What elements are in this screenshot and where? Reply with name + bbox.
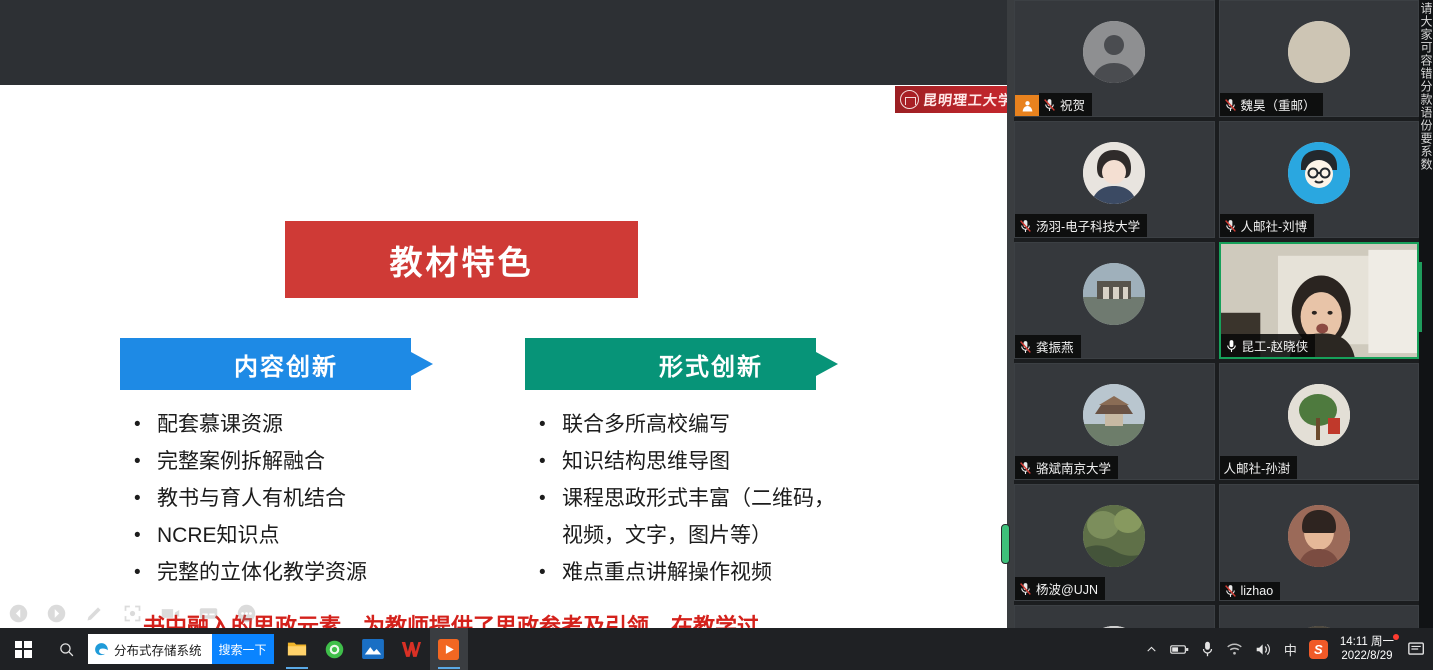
- list-item: NCRE知识点: [120, 517, 480, 554]
- participant-tile[interactable]: 汤羽-电子科技大学: [1014, 121, 1215, 238]
- more-options-icon[interactable]: [236, 603, 257, 624]
- presentation-slide[interactable]: 昆明理工大学 教材特色 内容创新 配套慕课资源 完整案例拆解融合 教书与育人有机…: [0, 85, 1007, 628]
- participant-name: 骆斌南京大学: [1036, 458, 1111, 477]
- system-tray[interactable]: 中 S 14:11 周一 2022/8/29: [1145, 628, 1425, 670]
- list-item: 联合多所高校编写: [525, 406, 925, 443]
- microphone-icon[interactable]: [1201, 641, 1214, 657]
- avatar: [1083, 505, 1145, 567]
- avatar: [1288, 142, 1350, 204]
- taskbar-search-button[interactable]: [46, 628, 86, 670]
- bullet-list-left: 配套慕课资源 完整案例拆解融合 教书与育人有机结合 NCRE知识点 完整的立体化…: [120, 406, 480, 591]
- list-item: 配套慕课资源: [120, 406, 480, 443]
- participant-name: lizhao: [1241, 584, 1274, 598]
- list-item: 教书与育人有机结合: [120, 480, 480, 517]
- start-button[interactable]: [0, 628, 46, 670]
- zoom-icon[interactable]: [122, 603, 143, 624]
- clock-time: 14:11 周一: [1340, 635, 1394, 649]
- avatar: [1288, 505, 1350, 567]
- media-player-icon: [438, 639, 459, 660]
- edge-search-bar[interactable]: 分布式存储系统 搜索一下: [88, 634, 274, 664]
- browser-globe-icon: [324, 639, 345, 660]
- participant-name: 昆工-赵晓侠: [1242, 336, 1309, 355]
- avatar: [1083, 263, 1145, 325]
- search-go-button[interactable]: 搜索一下: [212, 634, 274, 664]
- notification-icon[interactable]: [1408, 641, 1425, 657]
- meeting-screen: 昆明理工大学 教材特色 内容创新 配套慕课资源 完整案例拆解融合 教书与育人有机…: [0, 0, 1433, 670]
- mic-muted-icon: [1224, 98, 1237, 112]
- avatar: [1083, 384, 1145, 446]
- clock-date: 2022/8/29: [1340, 649, 1394, 663]
- taskbar-app-media-player[interactable]: [430, 628, 468, 670]
- section-content-innovation: 内容创新 配套慕课资源 完整案例拆解融合 教书与育人有机结合 NCRE知识点 完…: [120, 338, 480, 591]
- prev-slide-icon[interactable]: [8, 603, 29, 624]
- participants-scrollbar[interactable]: [1001, 524, 1010, 564]
- windows-taskbar[interactable]: 分布式存储系统 搜索一下: [0, 628, 1433, 670]
- app-running-underline: [286, 667, 308, 669]
- section-form-innovation: 形式创新 联合多所高校编写 知识结构思维导图 课程思政形式丰富（二维码， 视频，…: [525, 338, 925, 591]
- participant-name: 人邮社-刘博: [1241, 216, 1308, 235]
- chevron-up-icon[interactable]: [1145, 643, 1158, 656]
- presentation-toolbar[interactable]: [8, 603, 257, 624]
- participant-tile-active-speaker[interactable]: 昆工-赵晓侠: [1219, 242, 1420, 359]
- clock[interactable]: 14:11 周一 2022/8/29: [1340, 635, 1396, 663]
- participant-namebar: 人邮社-刘博: [1220, 214, 1315, 237]
- mic-muted-icon: [1019, 340, 1032, 354]
- windows-logo-icon: [15, 641, 32, 658]
- participant-namebar: 祝贺: [1039, 93, 1092, 116]
- taskbar-app-mountain[interactable]: [354, 628, 392, 670]
- participant-tile[interactable]: 祝贺: [1014, 0, 1215, 117]
- university-logo: 昆明理工大学: [895, 86, 1007, 113]
- participant-tile[interactable]: 骆斌南京大学: [1014, 363, 1215, 480]
- section-header-left: 内容创新: [120, 338, 480, 390]
- slide-title-banner: 教材特色: [285, 221, 638, 298]
- participant-namebar: 龚振燕: [1015, 335, 1081, 358]
- participant-namebar: 昆工-赵晓侠: [1221, 334, 1316, 357]
- participant-grid[interactable]: 祝贺 魏昊（重邮） 汤羽-电子科技大学: [1014, 0, 1419, 670]
- participant-name: 魏昊（重邮）: [1241, 95, 1316, 114]
- section-header-right: 形式创新: [525, 338, 925, 390]
- search-icon: [58, 641, 75, 658]
- participant-name: 杨波@UJN: [1036, 579, 1098, 598]
- side-panel-edge[interactable]: 请大家可容错分款语份要系数: [1419, 0, 1433, 670]
- avatar: [1083, 21, 1145, 83]
- participant-tile[interactable]: 龚振燕: [1014, 242, 1215, 359]
- host-badge-icon: [1015, 95, 1039, 116]
- search-query-text[interactable]: 分布式存储系统: [114, 640, 212, 659]
- avatar: [1288, 384, 1350, 446]
- taskbar-app-file-explorer[interactable]: [278, 628, 316, 670]
- participant-tile[interactable]: 魏昊（重邮）: [1219, 0, 1420, 117]
- wifi-icon[interactable]: [1226, 642, 1243, 656]
- participant-namebar: 汤羽-电子科技大学: [1015, 214, 1147, 237]
- list-item: 完整的立体化教学资源: [120, 554, 480, 591]
- pen-icon[interactable]: [84, 603, 105, 624]
- participant-tile[interactable]: 人邮社-刘博: [1219, 121, 1420, 238]
- section-title-left: 内容创新: [234, 347, 338, 382]
- mic-muted-icon: [1224, 584, 1237, 598]
- notification-dot: [1393, 634, 1399, 640]
- participant-namebar: 杨波@UJN: [1015, 577, 1105, 600]
- mic-unmuted-icon: [1225, 339, 1238, 353]
- participant-name: 人邮社-孙澍: [1224, 458, 1291, 477]
- list-item: 难点重点讲解操作视频: [525, 554, 925, 591]
- list-item: 完整案例拆解融合: [120, 443, 480, 480]
- mic-muted-icon: [1043, 98, 1056, 112]
- slide-note: 书中融入的思政元素，为教师提供了思政参考及引领，在教学过 程中教师可因地制宜具体…: [143, 611, 903, 628]
- seal-icon: [900, 90, 919, 109]
- participant-name: 汤羽-电子科技大学: [1036, 216, 1140, 235]
- participant-namebar: 魏昊（重邮）: [1220, 93, 1323, 116]
- participant-name: 龚振燕: [1036, 337, 1074, 356]
- edge-icon: [88, 641, 114, 658]
- arrow-marker-left: [411, 352, 433, 376]
- bullet-list-right: 联合多所高校编写 知识结构思维导图 课程思政形式丰富（二维码， 视频，文字，图片…: [525, 406, 925, 591]
- app-running-underline: [438, 667, 460, 669]
- ime-indicator[interactable]: 中: [1284, 640, 1297, 659]
- file-explorer-icon: [286, 639, 308, 659]
- participant-namebar: 人邮社-孙澍: [1220, 456, 1298, 479]
- taskbar-app-list[interactable]: [278, 628, 468, 670]
- mic-muted-icon: [1019, 219, 1032, 233]
- sogou-ime-icon[interactable]: S: [1309, 640, 1328, 659]
- wps-icon: [400, 639, 421, 659]
- side-panel-indicator: [1419, 262, 1422, 332]
- list-item: 知识结构思维导图: [525, 443, 925, 480]
- avatar: [1288, 21, 1350, 83]
- mountain-app-icon: [362, 639, 384, 659]
- taskbar-app-wps[interactable]: [392, 628, 430, 670]
- slide-note-line-1: 书中融入的思政元素，为教师提供了思政参考及引领，在教学过: [143, 611, 903, 628]
- avatar: [1083, 142, 1145, 204]
- side-panel-text: 请大家可容错分款语份要系数: [1419, 2, 1433, 171]
- slide-title: 教材特色: [390, 236, 534, 284]
- mic-muted-icon: [1019, 582, 1032, 596]
- participant-tile[interactable]: 人邮社-孙澍: [1219, 363, 1420, 480]
- arrow-marker-right: [816, 352, 838, 376]
- list-item-continuation: 视频，文字，图片等）: [525, 517, 925, 554]
- mic-muted-icon: [1019, 461, 1032, 475]
- present-view-icon[interactable]: [160, 603, 181, 624]
- participant-namebar: 骆斌南京大学: [1015, 456, 1118, 479]
- volume-icon[interactable]: [1255, 642, 1272, 657]
- subtitles-icon[interactable]: [198, 603, 219, 624]
- participant-namebar: lizhao: [1220, 582, 1281, 600]
- mic-muted-icon: [1224, 219, 1237, 233]
- university-logo-label: 昆明理工大学: [922, 90, 1007, 110]
- battery-icon[interactable]: [1170, 643, 1189, 656]
- section-title-right: 形式创新: [659, 347, 763, 382]
- participant-name: 祝贺: [1060, 95, 1085, 114]
- shared-screen-area[interactable]: 昆明理工大学 教材特色 内容创新 配套慕课资源 完整案例拆解融合 教书与育人有机…: [0, 0, 1007, 628]
- participant-tile[interactable]: lizhao: [1219, 484, 1420, 601]
- taskbar-app-browser[interactable]: [316, 628, 354, 670]
- list-item: 课程思政形式丰富（二维码，: [525, 480, 925, 517]
- next-slide-icon[interactable]: [46, 603, 67, 624]
- participant-tile[interactable]: 杨波@UJN: [1014, 484, 1215, 601]
